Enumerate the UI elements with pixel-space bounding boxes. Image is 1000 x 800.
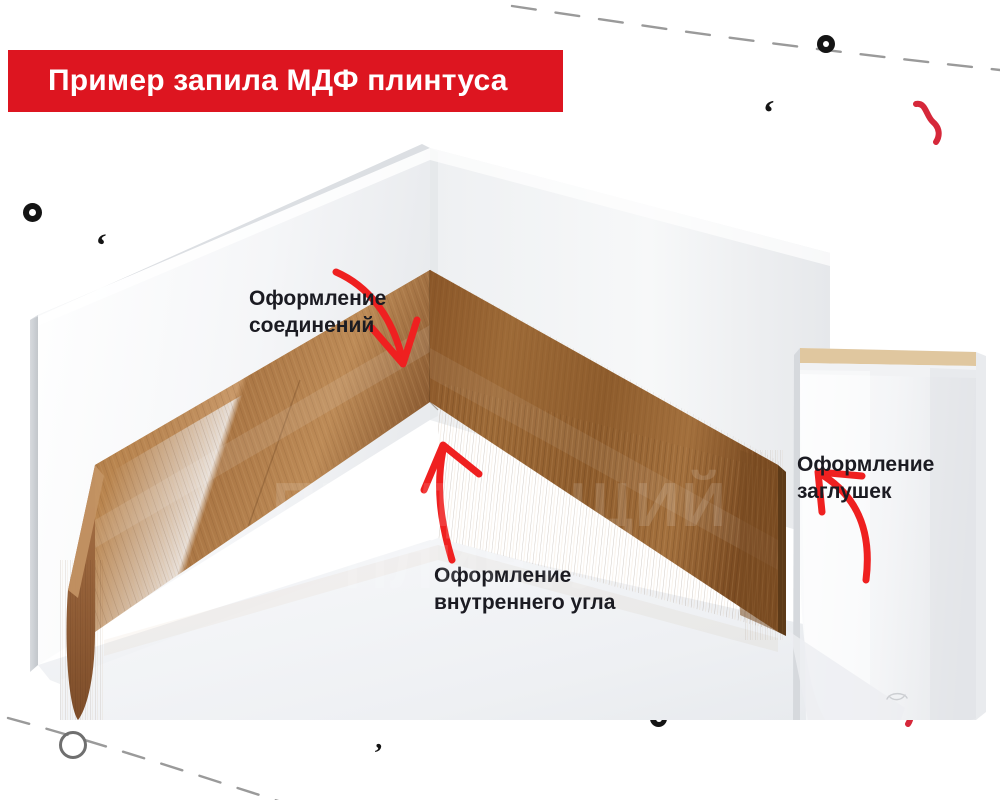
comma-mark-bottom-icon: , xyxy=(375,726,385,755)
label-joint: Оформление соединений xyxy=(249,286,386,340)
plinth-illustration xyxy=(0,120,1000,720)
label-inner-corner: Оформление внутреннего угла xyxy=(434,563,615,617)
ring-dot-top-right-icon xyxy=(817,35,835,53)
banner-title: Пример запила МДФ плинтуса xyxy=(48,64,508,98)
small-logo-stamp-icon xyxy=(884,686,910,706)
plinth-photo: ПРОДАЮЩИЙ ПЛИНТУС xyxy=(0,120,1000,720)
open-circle-marker-icon xyxy=(59,731,87,759)
label-end-cap: Оформление заглушек xyxy=(797,452,934,506)
title-banner: Пример запила МДФ плинтуса xyxy=(8,50,563,112)
poster-canvas: , , , xyxy=(0,0,1000,800)
